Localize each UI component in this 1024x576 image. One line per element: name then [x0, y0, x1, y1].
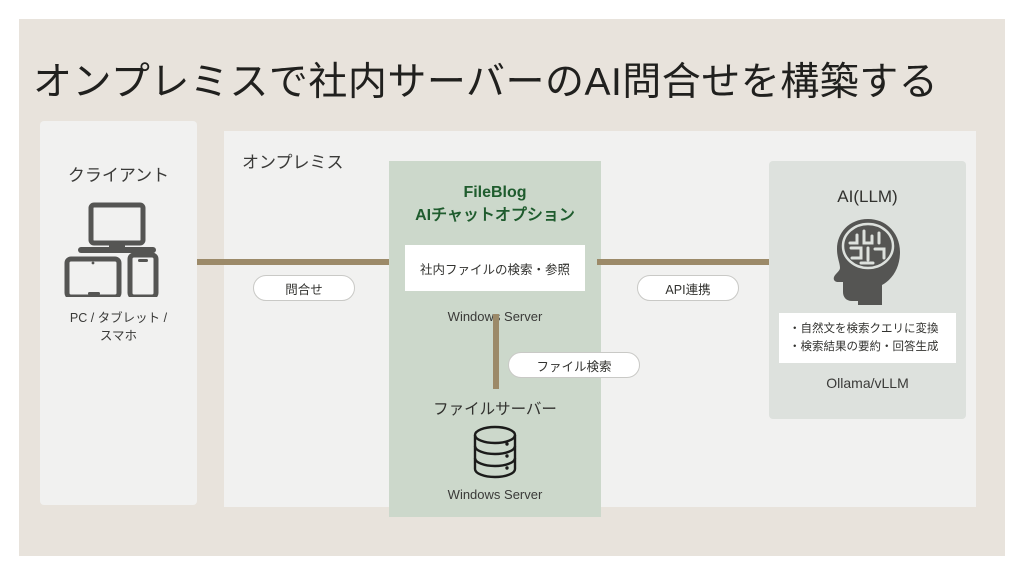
onpremise-container: オンプレミス FileBlog AIチャットオプション 社内ファイルの検索・参照…: [224, 131, 976, 507]
client-panel: クライアント: [40, 121, 197, 505]
client-panel-caption: PC / タブレット / スマホ: [40, 309, 197, 345]
fileserver-icon-wrap: [389, 423, 601, 481]
page-title: オンプレミスで社内サーバーのAI問合せを構築する: [33, 51, 993, 107]
ai-footer: Ollama/vLLM: [769, 375, 966, 391]
client-panel-title: クライアント: [40, 161, 197, 186]
device-group-icon: [64, 201, 174, 297]
ai-bullet-1: ・自然文を検索クエリに変換: [789, 320, 956, 338]
onpremise-label: オンプレミス: [242, 148, 344, 173]
laptop-icon: [78, 205, 156, 253]
fileserver-footer: Windows Server: [389, 487, 601, 502]
connector-label-inquiry: 問合せ: [253, 275, 355, 301]
fileblog-title-line-1: FileBlog: [389, 181, 601, 204]
ai-bullet-2: ・検索結果の要約・回答生成: [789, 338, 956, 356]
client-caption-line-2: スマホ: [40, 327, 197, 345]
database-cylinder-icon: [467, 423, 523, 481]
ai-feature-box: ・自然文を検索クエリに変換 ・検索結果の要約・回答生成: [779, 313, 956, 363]
client-caption-line-1: PC / タブレット /: [40, 309, 197, 327]
ai-icon-wrap: [769, 215, 966, 305]
connector-label-api: API連携: [637, 275, 739, 301]
connector-fileblog-to-ai: [597, 259, 769, 265]
fileblog-feature-box: 社内ファイルの検索・参照: [405, 245, 585, 291]
fileblog-title: FileBlog AIチャットオプション: [389, 181, 601, 227]
client-device-icons: [40, 199, 197, 299]
connector-fileblog-to-fileserver: [493, 314, 499, 389]
fileserver-box: ファイルサーバー Windows Server: [389, 383, 601, 517]
fileserver-title: ファイルサーバー: [389, 397, 601, 419]
smartphone-icon: [130, 255, 156, 297]
ai-panel-title: AI(LLM): [769, 187, 966, 207]
ai-llm-panel: AI(LLM) ・自然文を検索クエリ: [769, 161, 966, 419]
tablet-icon: [67, 259, 119, 297]
fileblog-title-line-2: AIチャットオプション: [389, 204, 601, 227]
connector-label-file-search: ファイル検索: [508, 352, 640, 378]
connector-client-to-fileblog: [197, 259, 389, 265]
slide-canvas: オンプレミスで社内サーバーのAI問合せを構築する クライアント: [19, 19, 1005, 556]
head-brain-icon: [827, 215, 909, 305]
